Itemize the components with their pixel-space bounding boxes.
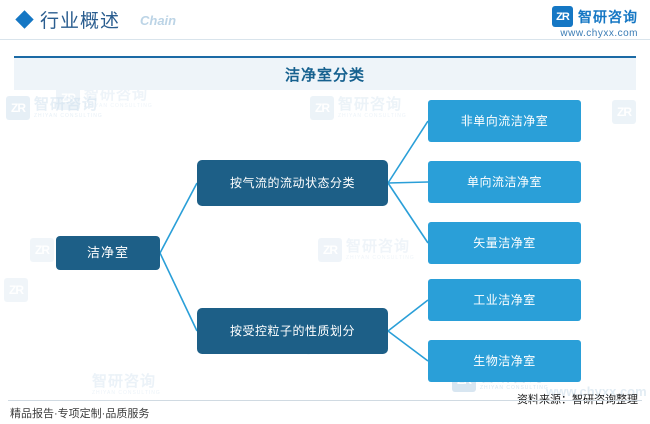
brand-logo-badge: ZR (552, 6, 573, 27)
diagram-branch-node-2[interactable]: 按受控粒子的性质划分 (197, 308, 388, 354)
diagram-leaf-label-1-2: 单向流洁净室 (467, 175, 542, 189)
diamond-icon (15, 10, 33, 28)
brand-url: www.chyxx.com (560, 28, 638, 39)
diagram-leaf-label-1-3: 矢量洁净室 (473, 236, 536, 250)
diagram-leaf-node-1-3[interactable]: 矢量洁净室 (428, 222, 581, 264)
diagram-leaf-node-1-2[interactable]: 单向流洁净室 (428, 161, 581, 203)
watermark-pinyin: ZHIYAN CONSULTING (92, 390, 161, 396)
source-note: 资料来源：智研咨询整理 (517, 391, 638, 407)
diagram-leaf-node-1-1[interactable]: 非单向流洁净室 (428, 100, 581, 142)
page-subtitle: Chain (140, 13, 176, 28)
footer-tagline: 精品报告·专项定制·品质服务 (10, 405, 149, 421)
page-title: 行业概述 (40, 6, 120, 33)
chart-title: 洁净室分类 (285, 64, 365, 85)
diagram-leaf-node-2-2[interactable]: 生物洁净室 (428, 340, 581, 382)
page-header: 行业概述 Chain ZR 智研咨询 www.chyxx.com (0, 0, 650, 40)
diagram-leaf-label-2-1: 工业洁净室 (473, 293, 536, 307)
diagram-leaf-node-2-1[interactable]: 工业洁净室 (428, 279, 581, 321)
brand-logo: ZR 智研咨询 (552, 6, 638, 27)
brand-logo-text: 智研咨询 (578, 7, 638, 27)
chart-title-bar: 洁净室分类 (14, 56, 636, 90)
diagram-root-node[interactable]: 洁净室 (56, 236, 160, 270)
header-divider (0, 39, 650, 40)
footer-divider (8, 400, 642, 401)
diagram-branch-label-1: 按气流的流动状态分类 (230, 176, 355, 190)
diagram-root-label: 洁净室 (87, 245, 129, 261)
diagram-canvas: 洁净室 按气流的流动状态分类 按受控粒子的性质划分 非单向流洁净室 单向流洁净室… (0, 88, 650, 388)
slide-page: ZR 智研咨询 ZHIYAN CONSULTING ZR 智研咨询 ZHIYAN… (0, 0, 650, 424)
diagram-leaf-label-2-2: 生物洁净室 (473, 354, 536, 368)
diagram-branch-node-1[interactable]: 按气流的流动状态分类 (197, 160, 388, 206)
diagram-leaf-label-1-1: 非单向流洁净室 (461, 114, 549, 128)
diagram-branch-label-2: 按受控粒子的性质划分 (230, 324, 355, 338)
